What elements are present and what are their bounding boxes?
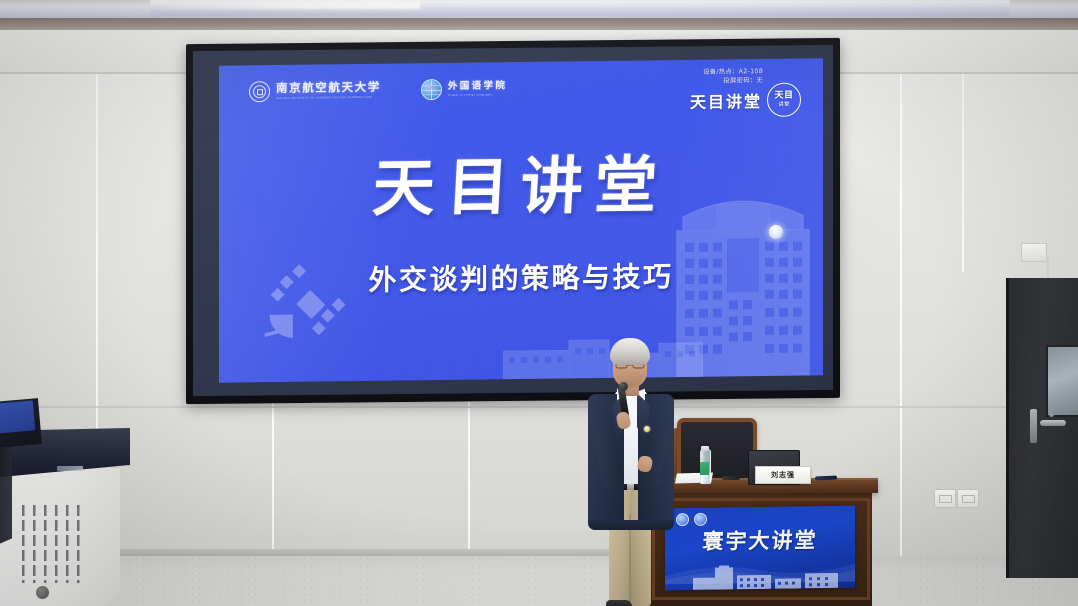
speaker-hair [610,338,650,365]
bottle-label [700,462,709,475]
door-lock-cylinder[interactable] [1049,412,1054,417]
door-window [1046,345,1078,417]
door-lock-plate [1030,409,1037,443]
ceiling-trim-band [0,18,1078,30]
door-handle[interactable] [1040,420,1066,426]
podium-banner-label: 寰宇大讲堂 [665,524,855,557]
speaker-person [582,338,678,606]
wall-seam [962,72,964,272]
banner-skyline-graphic [693,564,838,590]
wall-socket[interactable] [934,489,956,508]
ceiling-light-highlight [120,0,420,9]
floor-texture [0,556,1078,606]
wall-seam-horizontal [0,406,1006,408]
lectern-vent-pattern [22,505,80,583]
pen[interactable] [722,476,740,480]
banner-logos [676,513,707,526]
lectern-caster [36,586,49,599]
wall-socket[interactable] [957,489,979,508]
lecture-hall-photo: 南京航空航天大学 NANJING UNIVERSITY OF AERONAUTI… [0,0,1078,606]
lectern-badge [57,466,83,471]
wall-switch[interactable] [1021,243,1047,262]
wall-seam [272,402,274,560]
pen[interactable] [815,476,837,481]
banner-logo-icon [694,513,707,526]
wall-seam [900,72,902,560]
bottle-cap [701,446,709,451]
wall-seam [468,402,470,560]
speaker-belt-buckle [627,484,634,490]
room-door[interactable] [1006,278,1078,578]
led-scanlines [219,58,823,382]
lectern-monitor-screen[interactable] [0,400,35,433]
podium-banner: 寰宇大讲堂 [665,506,855,591]
name-card: 刘志强 [755,466,811,484]
speaker-jacket-hem [588,520,674,530]
name-card-text: 刘志强 [771,470,795,480]
presentation-slide[interactable]: 南京航空航天大学 NANJING UNIVERSITY OF AERONAUTI… [219,58,823,382]
speaker-shoe [606,600,632,606]
